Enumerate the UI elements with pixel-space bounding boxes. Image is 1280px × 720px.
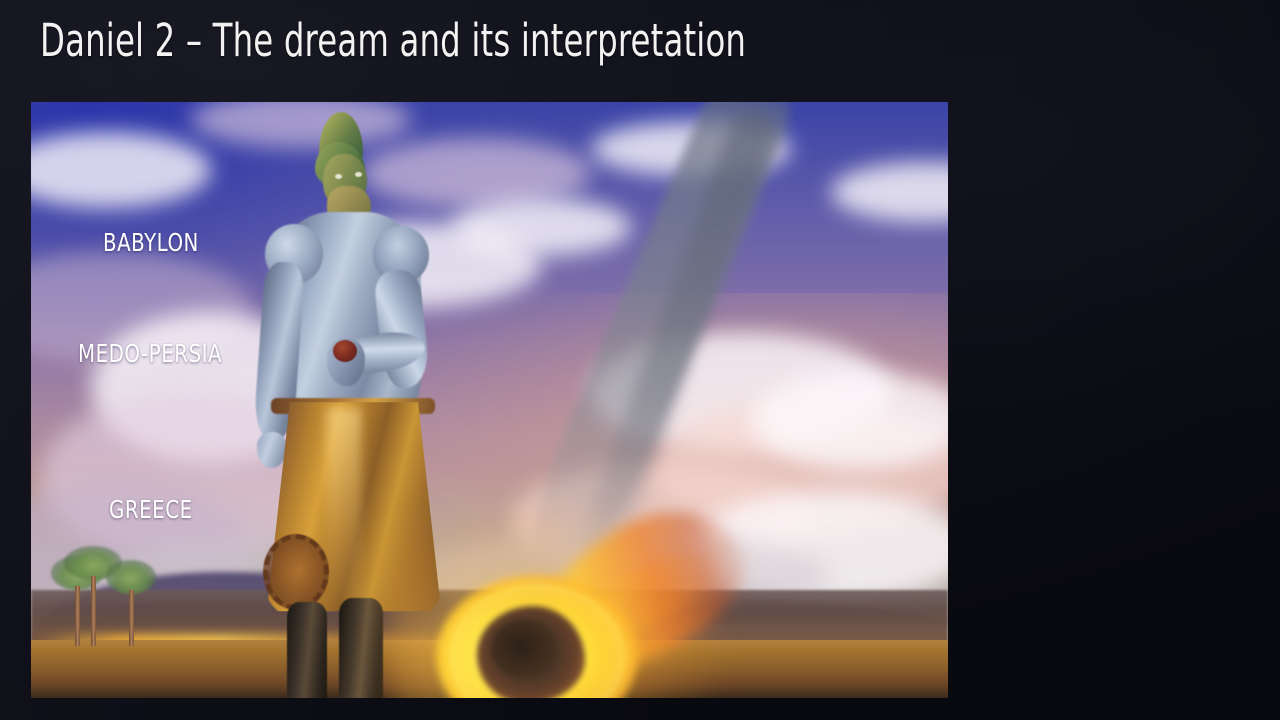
presentation-slide: Daniel 2 – The dream and its interpretat… bbox=[0, 0, 1280, 720]
page-title: Daniel 2 – The dream and its interpretat… bbox=[40, 17, 746, 64]
statue-leg-right-iron bbox=[339, 598, 383, 698]
label-medo-persia: MEDO-PERSIA bbox=[78, 339, 222, 368]
statue-hand-left bbox=[257, 432, 287, 468]
statue-skirt-highlight bbox=[327, 408, 361, 616]
statue-eye-left bbox=[335, 174, 342, 179]
burning-stone-meteor bbox=[429, 532, 729, 698]
meteor-rock-core-inner bbox=[491, 620, 557, 678]
statue-chest-gem bbox=[333, 340, 357, 362]
statue-eye-right bbox=[355, 172, 362, 177]
label-greece: GREECE bbox=[109, 495, 193, 524]
label-babylon: BABYLON bbox=[103, 228, 199, 257]
slide-image[interactable]: BABYLON MEDO-PERSIA GREECE bbox=[31, 102, 948, 698]
statue-leg-left-iron bbox=[287, 602, 327, 698]
statue-shield bbox=[263, 534, 329, 610]
